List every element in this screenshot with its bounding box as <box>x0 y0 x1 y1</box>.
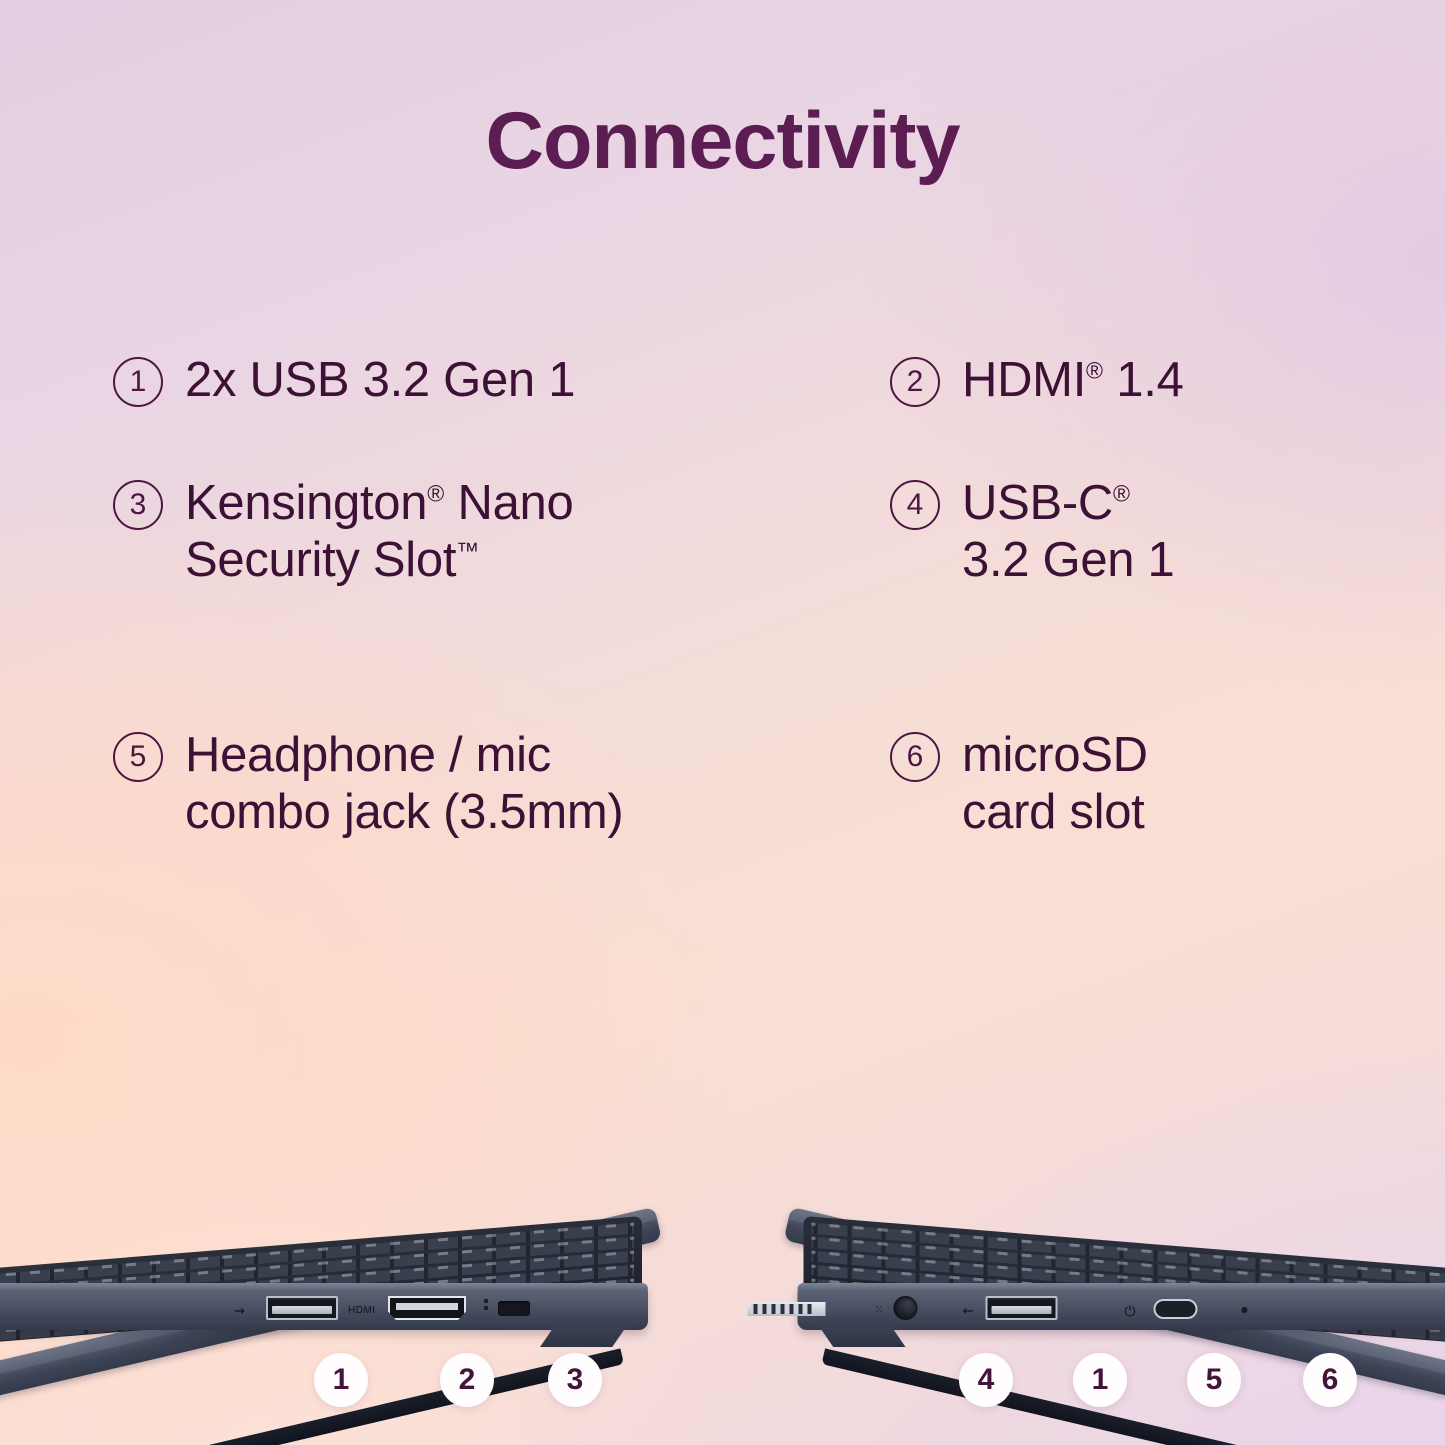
feature-row-3: 5 Headphone / miccombo jack (3.5mm) 6 mi… <box>0 727 1445 979</box>
callout-badge-left-1[interactable]: 1 <box>314 1353 368 1407</box>
usb-a-port-left <box>266 1296 338 1320</box>
callout-badge-right-6[interactable]: 6 <box>1303 1353 1357 1407</box>
status-led-indicator <box>1241 1307 1247 1313</box>
headphone-mic-icon: ⁙ <box>874 1303 883 1316</box>
usb-c-port <box>1153 1299 1197 1319</box>
usb-a-port-right <box>985 1296 1057 1320</box>
feature-label-usbc: USB-C®3.2 Gen 1 <box>962 475 1175 589</box>
base-top-edge-left <box>0 1283 648 1289</box>
feature-item-microsd: 6 microSDcard slot <box>890 727 1148 841</box>
callout-badge-left-2[interactable]: 2 <box>440 1353 494 1407</box>
feature-item-hdmi: 2 HDMI® 1.4 <box>890 352 1184 409</box>
feature-label-usb: 2x USB 3.2 Gen 1 <box>185 352 575 409</box>
kensington-lock-slot <box>498 1301 530 1316</box>
feature-label-hdmi: HDMI® 1.4 <box>962 352 1184 409</box>
feature-row-2: 3 Kensington® NanoSecurity Slot™ 4 USB-C… <box>0 475 1445 727</box>
laptop-left-side-profile: ⇝ HDMI <box>0 1042 685 1352</box>
usb-ss-symbol-right: ⇝ <box>962 1303 973 1319</box>
base-top-edge-right <box>797 1283 1445 1289</box>
callout-badge-right-4[interactable]: 4 <box>959 1353 1013 1407</box>
feature-item-headphone: 5 Headphone / miccombo jack (3.5mm) <box>113 727 623 841</box>
usb-ss-symbol-left: ⇝ <box>234 1303 245 1319</box>
callout-badge-right-5[interactable]: 5 <box>1187 1353 1241 1407</box>
hdmi-port <box>388 1296 466 1320</box>
headphone-jack <box>893 1296 917 1320</box>
marker-1: 1 <box>113 357 163 407</box>
feature-item-usb: 1 2x USB 3.2 Gen 1 <box>113 352 575 409</box>
marker-6: 6 <box>890 732 940 782</box>
feature-item-kensington: 3 Kensington® NanoSecurity Slot™ <box>113 475 573 589</box>
marker-5: 5 <box>113 732 163 782</box>
feature-label-kensington: Kensington® NanoSecurity Slot™ <box>185 475 573 589</box>
feature-item-usbc: 4 USB-C®3.2 Gen 1 <box>890 475 1175 589</box>
feature-label-headphone: Headphone / miccombo jack (3.5mm) <box>185 727 623 841</box>
microsd-card-slot <box>747 1302 825 1316</box>
kensington-indicator-dots <box>484 1299 488 1313</box>
hdmi-port-label: HDMI <box>348 1305 376 1316</box>
power-plug-icon: ⏻ <box>1124 1303 1135 1320</box>
marker-4: 4 <box>890 480 940 530</box>
laptop-right-side-profile: ⏻ ⇝ ⁙ <box>761 1042 1445 1352</box>
callout-badge-right-1[interactable]: 1 <box>1073 1353 1127 1407</box>
laptop-base-right: ⏻ ⇝ ⁙ <box>797 1283 1445 1330</box>
marker-3: 3 <box>113 480 163 530</box>
callout-badges: 1 2 3 4 1 5 6 <box>0 1325 1445 1445</box>
feature-label-microsd: microSDcard slot <box>962 727 1148 841</box>
page-title: Connectivity <box>0 95 1445 188</box>
marker-2: 2 <box>890 357 940 407</box>
callout-badge-left-3[interactable]: 3 <box>548 1353 602 1407</box>
feature-row-1: 1 2x USB 3.2 Gen 1 2 HDMI® 1.4 <box>0 352 1445 475</box>
laptop-base-left: ⇝ HDMI <box>0 1283 648 1330</box>
feature-list: 1 2x USB 3.2 Gen 1 2 HDMI® 1.4 3 Kensing… <box>0 352 1445 979</box>
